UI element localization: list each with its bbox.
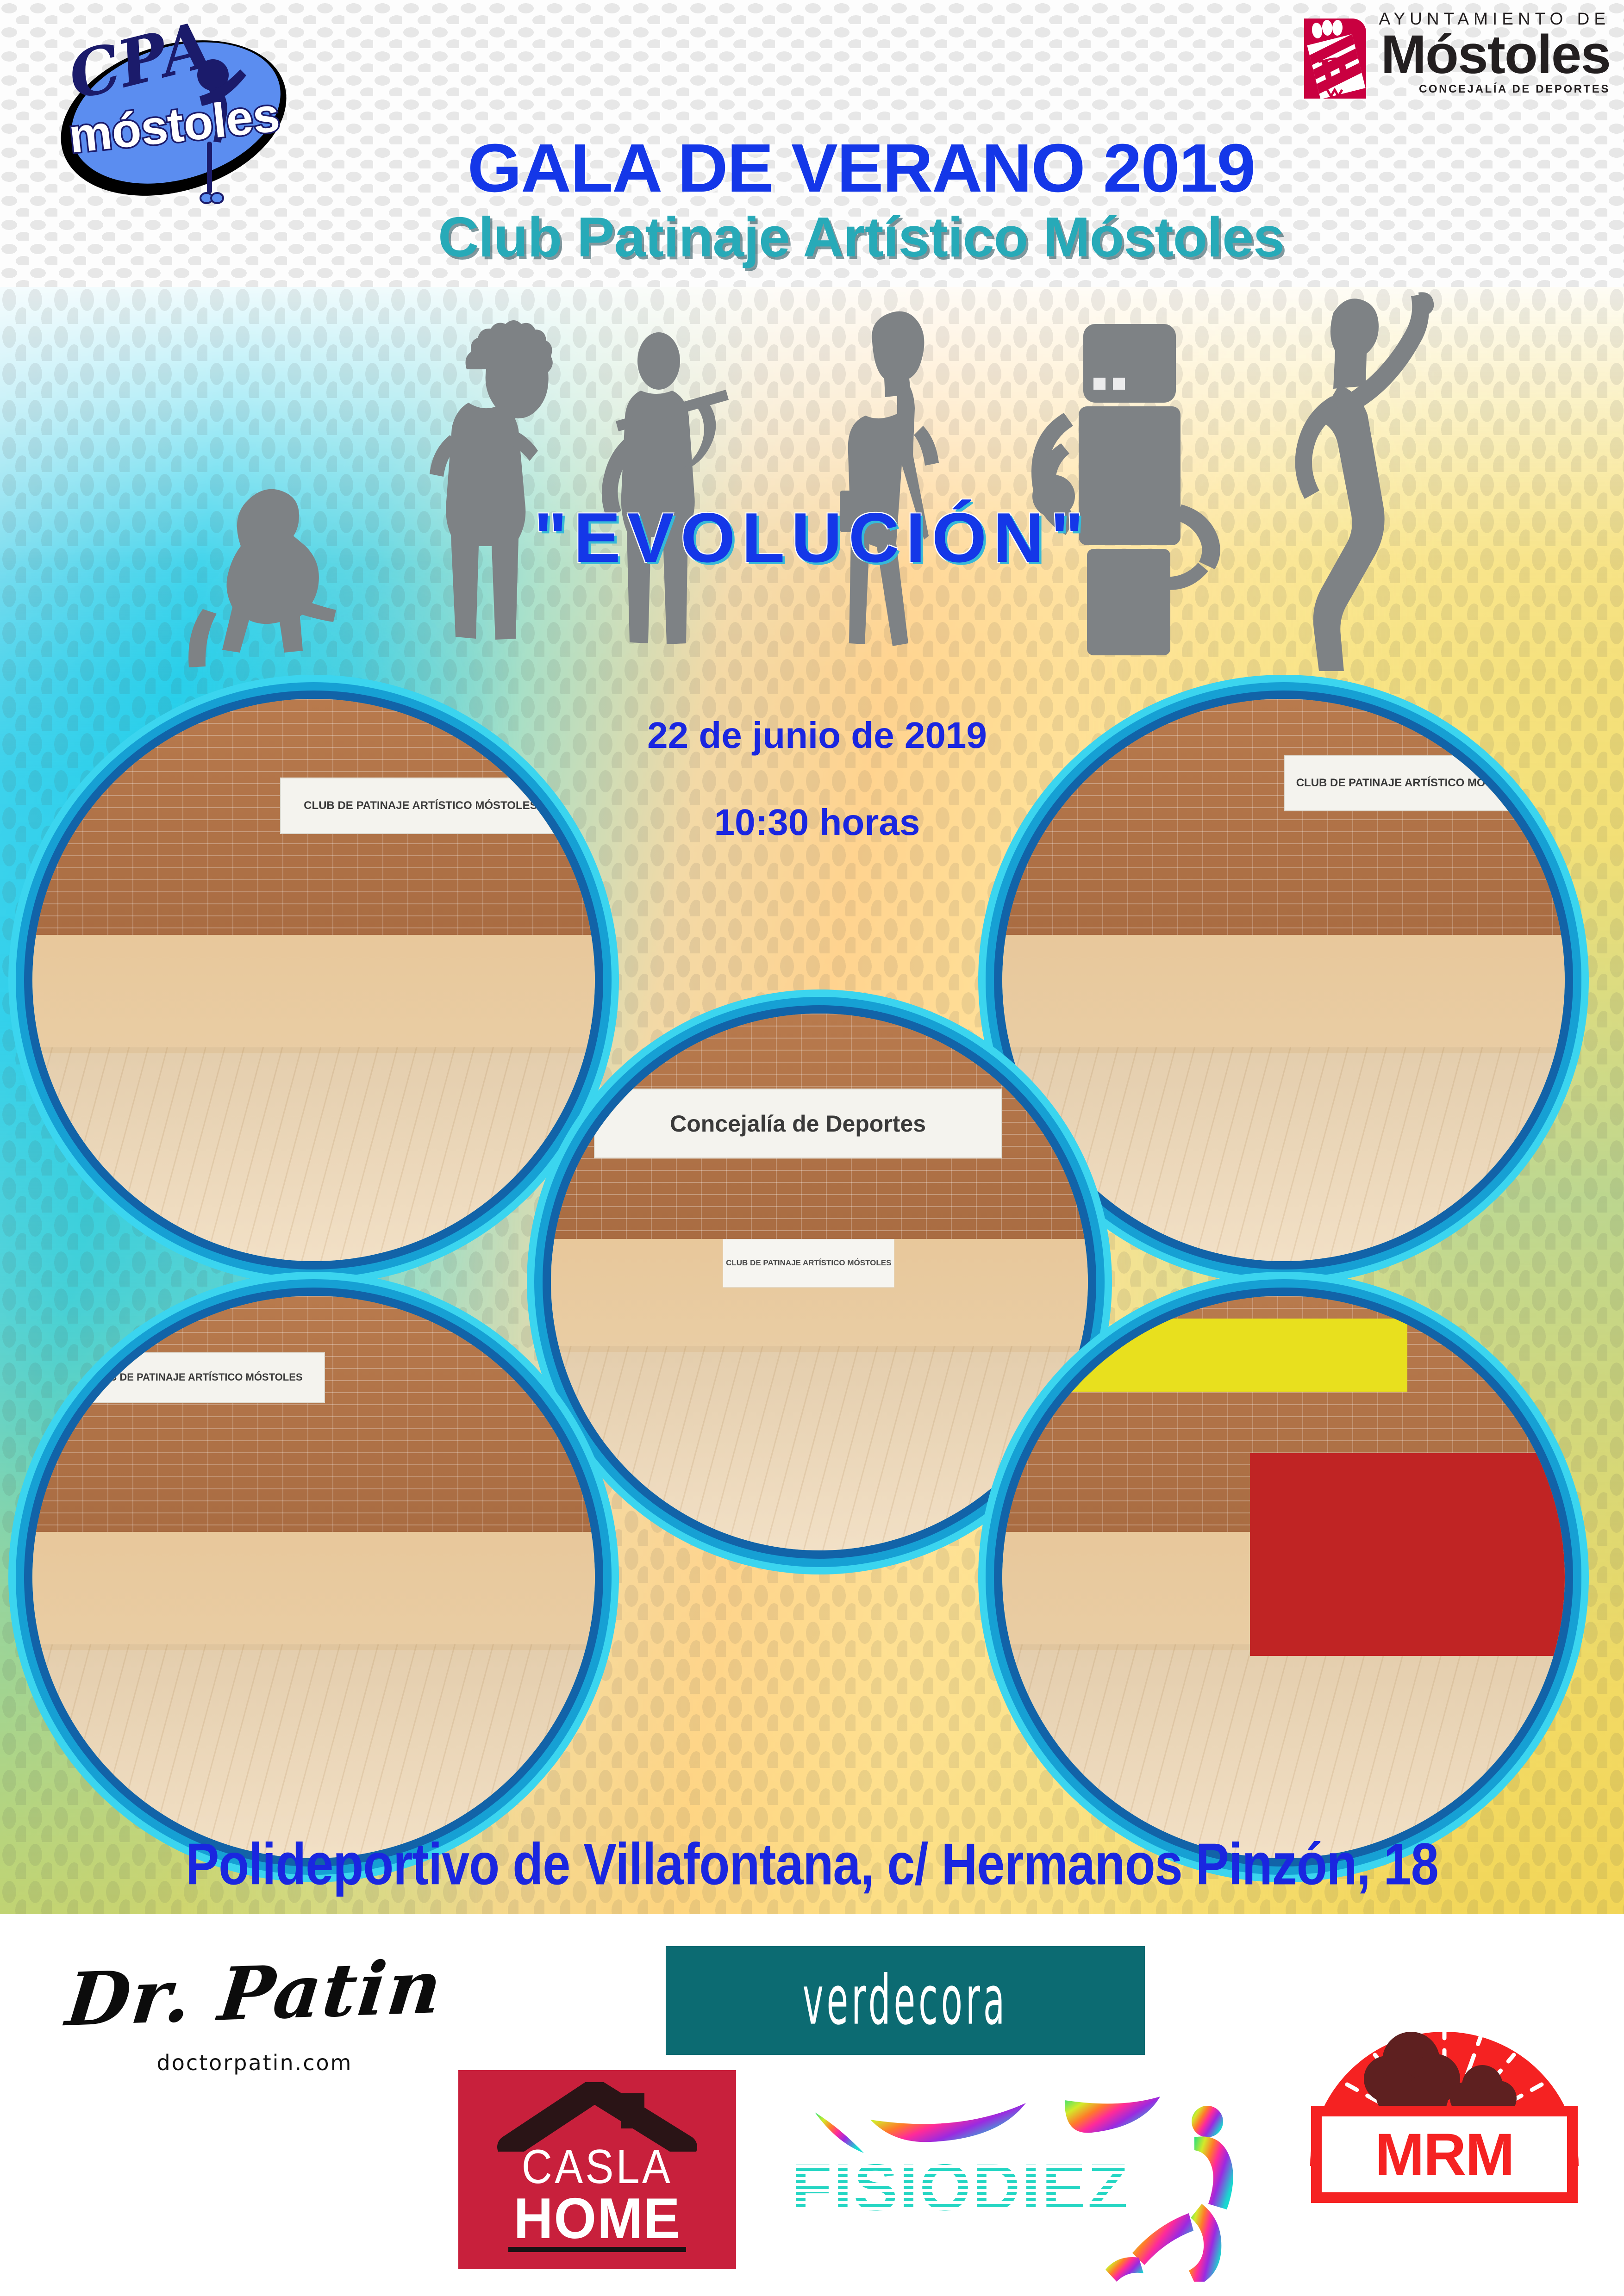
venue-address: Polideportivo de Villafontana, c/ Herman…	[0, 1830, 1624, 1898]
photo-banner-text: CLUB DE PATINAJE ARTÍSTICO MÓSTOLES	[66, 1352, 325, 1403]
ayto-line-2: Móstoles	[1379, 30, 1610, 80]
hunter-silhouette	[602, 332, 729, 644]
photo-bottom-right	[1002, 1296, 1565, 1858]
sponsor-dr-patin: Dr. Patin doctorpatin.com	[28, 1951, 481, 2075]
casla-word-bottom: HOME	[465, 2186, 729, 2252]
photo-banner-cpa: CLUB DE PATINAJE ARTÍSTICO MÓSTOLES	[723, 1239, 894, 1287]
caveman-silhouette	[430, 320, 553, 640]
ayuntamiento-mostoles-logo: D AYUNTAMIENTO DE Móstoles CONCEJALÍA DE…	[1300, 9, 1610, 101]
photo-ad-banner	[1070, 1319, 1407, 1392]
show-title: "EVOLUCIÓN"	[0, 498, 1624, 579]
sponsor-fisiodiez: FISIODIEZ	[787, 2083, 1250, 2282]
poster-root: CPA móstoles GALA DE VERANO 2019 Club Pa…	[0, 0, 1624, 2296]
businesswoman-silhouette	[840, 311, 939, 646]
photo-top-left: CLUB DE PATINAJE ARTÍSTICO MÓSTOLES	[32, 699, 595, 1261]
evolution-silhouettes	[0, 287, 1624, 671]
page-title: GALA DE VERANO 2019	[247, 134, 1475, 203]
dr-patin-url: doctorpatin.com	[28, 2050, 481, 2075]
page-subtitle: Club Patinaje Artístico Móstoles	[259, 205, 1463, 269]
photo-bottom-left: CLUB DE PATINAJE ARTÍSTICO MÓSTOLES	[32, 1296, 595, 1858]
mrm-wordmark: MRM	[1375, 2121, 1514, 2189]
casla-underline	[508, 2247, 686, 2252]
skater-silhouette	[1295, 292, 1434, 671]
robot-silhouette	[1031, 324, 1220, 655]
event-datetime: 22 de junio de 2019 10:30 horas	[532, 715, 1102, 843]
title-block: GALA DE VERANO 2019 Club Patinaje Artíst…	[259, 134, 1463, 269]
event-time: 10:30 horas	[532, 802, 1102, 843]
sponsor-mrm: MRM	[1292, 1999, 1597, 2259]
mrm-badge: MRM	[1311, 2106, 1578, 2203]
sponsor-casla-home: CASLA HOME	[458, 2070, 736, 2269]
mostoles-coat-of-arms-icon: D	[1300, 16, 1369, 101]
photo-banner-text: CLUB DE PATINAJE ARTÍSTICO MÓSTOLES	[280, 778, 562, 834]
photo-banner-text: CLUB DE PATINAJE ARTÍSTICO MÓSTOLES	[1284, 755, 1543, 812]
fisiodiez-wordmark: FISIODIEZ	[792, 2150, 1130, 2226]
sponsor-verdecora: verdecora	[666, 1946, 1145, 2055]
photo-red-wall	[1250, 1453, 1565, 1655]
photo-banner-deportes: Concejalía de Deportes	[594, 1089, 1002, 1158]
event-date: 22 de junio de 2019	[532, 715, 1102, 756]
verdecora-wordmark: verdecora	[803, 1961, 1008, 2040]
dr-patin-wordmark: Dr. Patin	[62, 1944, 447, 2043]
